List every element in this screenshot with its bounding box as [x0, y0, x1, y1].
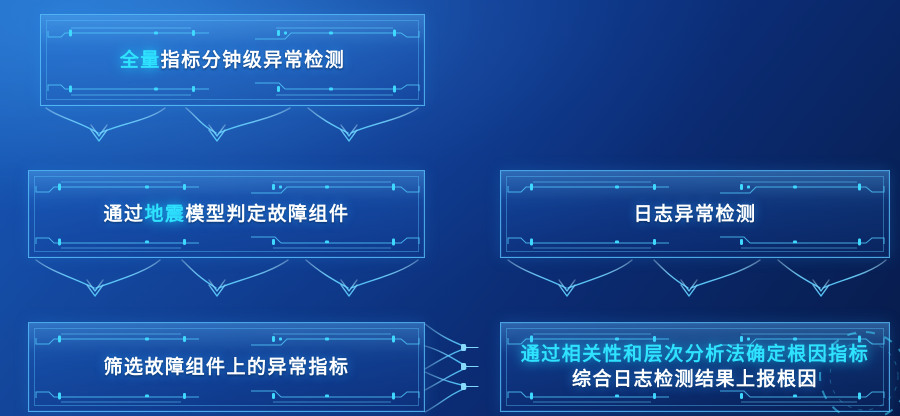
flow-arrow-group-b [36, 260, 418, 296]
diagram-canvas: 全量指标分钟级异常检测 [0, 0, 900, 416]
box-top-glow [501, 171, 889, 200]
node-earthquake-model[interactable]: 通过地震模型判定故障组件 [28, 170, 425, 258]
node-label-rest: 指标分钟级异常检测 [161, 49, 346, 71]
node-log-anomaly[interactable]: 日志异常检测 [500, 170, 890, 258]
box-top-glow [29, 323, 424, 353]
node-label: 通过相关性和层次分析法确定根因指标 综合日志检测结果上报根因 [501, 342, 889, 392]
node-label-line2: 综合日志检测结果上报根因 [501, 367, 889, 392]
node-label-line1: 通过相关性和层次分析法确定根因指标 [501, 342, 889, 367]
flow-arrow-group-d [425, 324, 478, 412]
node-label: 全量指标分钟级异常检测 [41, 47, 424, 73]
flow-arrow-group-c [508, 260, 886, 296]
box-top-glow [29, 171, 424, 200]
node-label: 通过地震模型判定故障组件 [29, 201, 424, 227]
node-label: 筛选故障组件上的异常指标 [29, 354, 424, 380]
flow-arrow-group-a [46, 108, 418, 141]
node-root-cause[interactable]: 通过相关性和层次分析法确定根因指标 综合日志检测结果上报根因 [500, 322, 890, 412]
node-label-prefix: 通过 [103, 203, 144, 225]
node-label-highlight: 地震 [144, 203, 185, 225]
box-top-glow [41, 15, 424, 46]
node-label-highlight: 全量 [120, 49, 161, 71]
node-label: 日志异常检测 [501, 201, 889, 227]
node-full-metric-detection[interactable]: 全量指标分钟级异常检测 [40, 14, 425, 106]
node-label-rest: 筛选故障组件上的异常指标 [103, 356, 349, 378]
node-label-rest: 模型判定故障组件 [186, 203, 350, 225]
node-filter-metrics[interactable]: 筛选故障组件上的异常指标 [28, 322, 425, 412]
node-label-rest: 日志异常检测 [633, 203, 756, 225]
